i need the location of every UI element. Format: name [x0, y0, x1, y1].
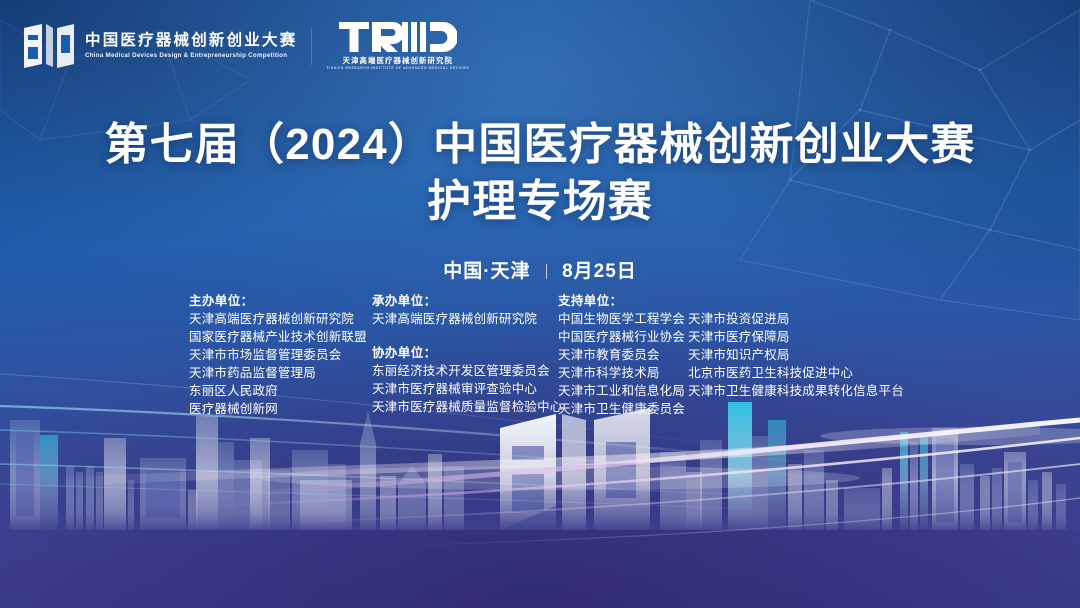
organizer-item: 国家医疗器械产业技术创新联盟 — [189, 328, 372, 346]
organizer-item: 天津高端医疗器械创新研究院 — [372, 310, 558, 328]
organizer-item: 中国医疗器械行业协会 — [558, 328, 688, 346]
organizer-item: 天津市卫生健康委员会 — [558, 400, 688, 418]
organizer-item: 医疗器械创新网 — [189, 400, 372, 418]
organizer-item: 东丽经济技术开发区管理委员会 — [372, 362, 558, 380]
organizer-group: 协办单位：东丽经济技术开发区管理委员会天津市医疗器械审评查验中心天津市医疗器械质… — [372, 344, 558, 416]
organizer-group: 支持单位：天津市投资促进局天津市医疗保障局天津市知识产权局北京市医药卫生科技促进… — [688, 292, 904, 400]
competition-logo: 中国医疗器械创新创业大赛 China Medical Devices Desig… — [22, 23, 297, 69]
organizer-item: 天津市医疗保障局 — [688, 328, 904, 346]
competition-logo-cn: 中国医疗器械创新创业大赛 — [85, 33, 297, 49]
title-line-1: 第七届（2024）中国医疗器械创新创业大赛 — [0, 118, 1080, 173]
organizer-item: 天津市投资促进局 — [688, 310, 904, 328]
organizer-item: 天津市市场监督管理委员会 — [189, 346, 372, 364]
organizer-group-heading: 支持单位： — [558, 292, 688, 310]
organizer-item: 天津市药品监督管理局 — [189, 364, 372, 382]
open-book-logo-icon — [22, 23, 76, 69]
organizer-item: 东丽区人民政府 — [189, 382, 372, 400]
organizer-item: 天津市工业和信息化局 — [558, 382, 688, 400]
organizer-group: 支持单位：中国生物医学工程学会中国医疗器械行业协会天津市教育委员会天津市科学技术… — [558, 292, 688, 418]
logo-divider — [311, 27, 312, 65]
triid-logo-en: TIANJIN RESEARCH INSTITUTE OF ADVANCED M… — [326, 67, 469, 71]
organizer-column-3: 支持单位：中国生物医学工程学会中国医疗器械行业协会天津市教育委员会天津市科学技术… — [558, 292, 688, 418]
triid-logo-cn: 天津高端医疗器械创新研究院 — [343, 57, 453, 64]
organizer-column-1: 主办单位：天津高端医疗器械创新研究院国家医疗器械产业技术创新联盟天津市市场监督管… — [189, 292, 372, 418]
competition-logo-en: China Medical Devices Design & Entrepren… — [85, 53, 302, 59]
triid-logo: 天津高端医疗器械创新研究院 TIANJIN RESEARCH INSTITUTE… — [326, 22, 469, 71]
organizer-item: 天津市知识产权局 — [688, 346, 904, 364]
organizer-item: 天津市卫生健康科技成果转化信息平台 — [688, 382, 904, 400]
organizer-item: 天津市教育委员会 — [558, 346, 688, 364]
organizer-item: 天津市科学技术局 — [558, 364, 688, 382]
organizer-group: 主办单位：天津高端医疗器械创新研究院国家医疗器械产业技术创新联盟天津市市场监督管… — [189, 292, 372, 418]
organizer-item: 天津市医疗器械质量监督检验中心 — [372, 398, 558, 416]
title-line-2: 护理专场赛 — [0, 175, 1080, 230]
triid-wordmark-icon — [339, 22, 457, 52]
subtitle-divider — [546, 264, 547, 279]
event-date: 8月25日 — [562, 261, 637, 282]
organizer-item: 天津高端医疗器械创新研究院 — [189, 310, 372, 328]
poster-title: 第七届（2024）中国医疗器械创新创业大赛 护理专场赛 — [0, 118, 1080, 229]
organizer-group-heading: 主办单位： — [189, 292, 372, 310]
organizer-column-4: 支持单位：天津市投资促进局天津市医疗保障局天津市知识产权局北京市医药卫生科技促进… — [688, 292, 904, 400]
event-poster: 中国医疗器械创新创业大赛 China Medical Devices Desig… — [0, 0, 1080, 608]
organizer-columns: 主办单位：天津高端医疗器械创新研究院国家医疗器械产业技术创新联盟天津市市场监督管… — [189, 292, 904, 418]
event-location: 中国·天津 — [443, 261, 530, 282]
organizer-item: 北京市医药卫生科技促进中心 — [688, 364, 904, 382]
organizer-group-heading: 承办单位： — [372, 292, 558, 310]
organizer-item: 天津市医疗器械审评查验中心 — [372, 380, 558, 398]
header-logos: 中国医疗器械创新创业大赛 China Medical Devices Desig… — [22, 22, 469, 71]
event-location-date: 中国·天津 8月25日 — [0, 256, 1080, 283]
organizer-column-2: 承办单位：天津高端医疗器械创新研究院协办单位：东丽经济技术开发区管理委员会天津市… — [372, 292, 558, 416]
organizer-group-heading: 协办单位： — [372, 344, 558, 362]
organizer-group: 承办单位：天津高端医疗器械创新研究院 — [372, 292, 558, 328]
organizer-item: 中国生物医学工程学会 — [558, 310, 688, 328]
